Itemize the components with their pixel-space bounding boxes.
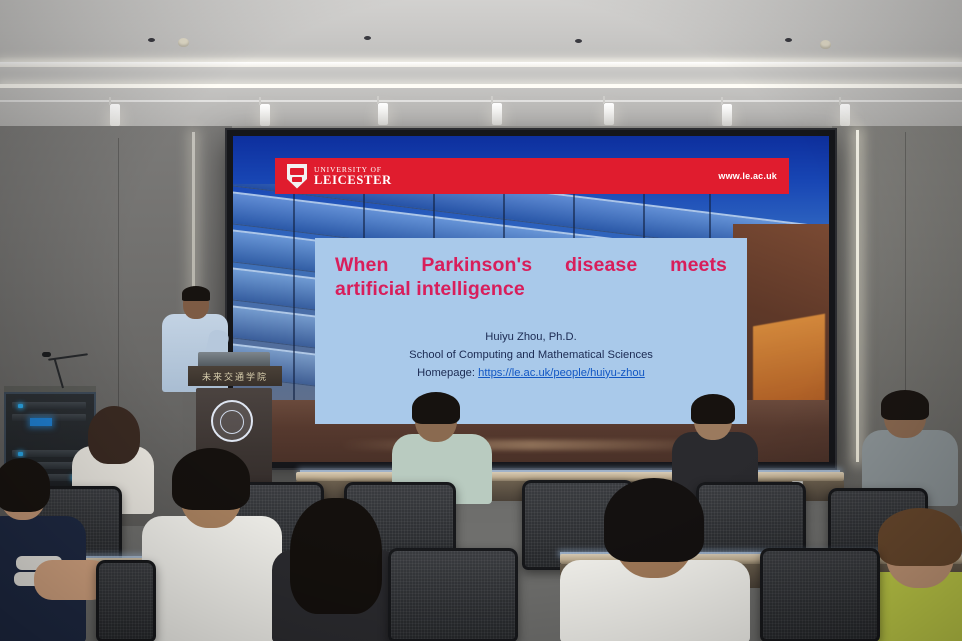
brand-line-1: UNIVERSITY OF [314, 166, 392, 174]
brand-line-2: LEICESTER [314, 174, 392, 187]
brand-website-url: www.le.ac.uk [718, 171, 777, 181]
slide-title: When Parkinson's disease meets artificia… [335, 254, 727, 302]
homepage-link[interactable]: https://le.ac.uk/people/huiyu-zhou [478, 367, 645, 379]
microphone-capsule-icon [42, 352, 51, 357]
recessed-downlight-icon [148, 38, 155, 42]
slide-title-line-2: artificial intelligence [335, 278, 727, 302]
presenter-homepage-row: Homepage: https://le.ac.uk/people/huiyu-… [335, 364, 727, 382]
ceiling-upper-slab [0, 0, 962, 56]
recessed-downlight-icon [785, 38, 792, 42]
track-light-icon [260, 104, 270, 126]
chair[interactable] [96, 560, 156, 641]
institution-emblem-icon [211, 400, 253, 442]
presenter-affiliation: School of Computing and Mathematical Sci… [335, 346, 727, 364]
recessed-downlight-icon [575, 39, 582, 43]
smoke-detector-icon [178, 38, 189, 47]
podium-nameplate: 未来交通学院 [188, 366, 282, 386]
presenter-name: Huiyu Zhou, Ph.D. [335, 328, 727, 346]
chair[interactable] [760, 548, 880, 641]
presenter-hair [182, 286, 210, 301]
ceiling-lower-slab [0, 88, 962, 126]
av-rack-display [30, 418, 52, 426]
podium-sign-text: 未来交通学院 [202, 370, 268, 383]
track-light-icon [604, 103, 614, 125]
chair[interactable] [388, 548, 518, 641]
track-light-icon [722, 104, 732, 126]
slide-title-line-1: When Parkinson's disease meets [335, 254, 727, 278]
slide-credits: Huiyu Zhou, Ph.D. School of Computing an… [335, 328, 727, 382]
presentation-screen[interactable]: UNIVERSITY OF LEICESTER www.le.ac.uk Whe… [233, 136, 829, 462]
track-light-icon [378, 103, 388, 125]
slide-content-card: When Parkinson's disease meets artificia… [315, 238, 747, 424]
track-light-icon [110, 104, 120, 126]
lecture-hall-photo: UNIVERSITY OF LEICESTER www.le.ac.uk Whe… [0, 0, 962, 641]
recessed-downlight-icon [364, 36, 371, 40]
track-light-icon [840, 104, 850, 126]
leicester-brand-bar: UNIVERSITY OF LEICESTER www.le.ac.uk [275, 158, 789, 194]
ceiling-track-rail [0, 100, 962, 102]
track-light-icon [492, 103, 502, 125]
wall-vertical-led-icon [856, 130, 859, 462]
university-crest-icon [287, 164, 307, 189]
smoke-detector-icon [820, 40, 831, 49]
homepage-label: Homepage: [417, 367, 475, 379]
